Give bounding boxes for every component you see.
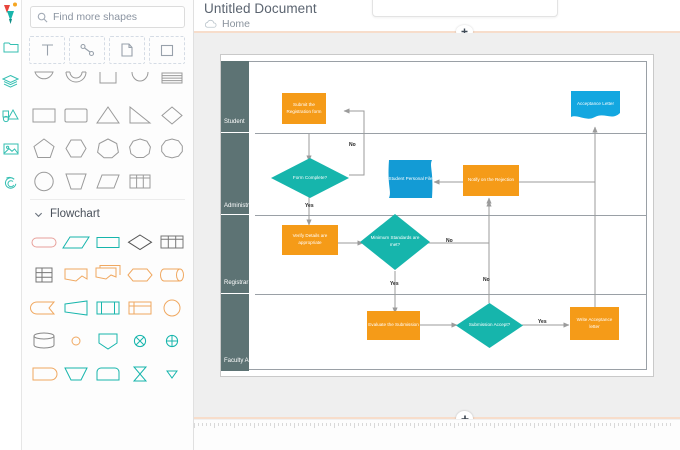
ruler-tick: [670, 423, 671, 426]
ruler-tick: [514, 423, 515, 428]
app-root: Flowchart: [0, 0, 680, 450]
shape-nonagon-icon[interactable]: [125, 133, 154, 163]
ruler-tick: [378, 423, 379, 426]
ruler-tick: [650, 423, 651, 426]
ruler-tick: [538, 423, 539, 426]
ruler-tick: [198, 423, 199, 426]
shape-arc-double-icon[interactable]: [61, 67, 90, 97]
shape-trapezoid-icon[interactable]: [61, 166, 90, 196]
ruler-tick: [506, 423, 507, 426]
ruler-tick: [230, 423, 231, 426]
ruler-tick: [530, 423, 531, 426]
search-input[interactable]: [53, 11, 178, 23]
ruler-tick: [310, 423, 311, 426]
ruler-tick: [354, 423, 355, 428]
shape-shield-icon[interactable]: [93, 326, 122, 356]
shape-search-wrap: [22, 0, 193, 32]
ruler-tick: [582, 423, 583, 426]
node-form-complete[interactable]: Form Complete?: [271, 158, 349, 198]
shape-small-circle-icon[interactable]: [61, 326, 90, 356]
node-evaluate-submission[interactable]: Evaluate the Submission: [367, 311, 420, 340]
edge-label-no-accept: No: [483, 277, 490, 283]
ruler-tick: [494, 423, 495, 428]
connector-tool-icon[interactable]: [69, 36, 105, 64]
shape-rounded-terminator-icon[interactable]: [93, 359, 122, 389]
ruler-tick: [554, 423, 555, 428]
diagram-sheet[interactable]: Student Administration Registrar Faculty…: [220, 54, 654, 377]
ruler-tick: [314, 423, 315, 428]
shape-row: [29, 293, 186, 323]
shape-table-icon[interactable]: [157, 227, 186, 257]
shape-summing-junction-icon[interactable]: [125, 326, 154, 356]
node-student-personal-file[interactable]: Student Personal File: [386, 160, 435, 198]
swimlane-label-faculty: Faculty Admin: [224, 358, 262, 364]
shape-decision-icon[interactable]: [125, 227, 154, 257]
layers-icon[interactable]: [2, 72, 20, 90]
chevron-down-icon: [34, 210, 43, 219]
shape-table-striped-icon[interactable]: [157, 67, 186, 97]
ruler-tick: [422, 423, 423, 426]
breadcrumb[interactable]: Home: [204, 18, 680, 30]
ruler-tick: [278, 423, 279, 426]
ruler-tick: [430, 423, 431, 426]
node-acceptance-letter[interactable]: Acceptance Letter: [571, 88, 620, 121]
ruler-tick: [274, 423, 275, 428]
ruler-tick: [526, 423, 527, 426]
ruler-tick: [482, 423, 483, 426]
swimlane-separator: [255, 215, 647, 216]
ruler-tick: [654, 423, 655, 428]
editor-area: Untitled Document Home Stu: [194, 0, 680, 450]
search-icon: [37, 12, 48, 23]
ruler-tick: [262, 423, 263, 426]
ruler-tick: [546, 423, 547, 426]
node-notify-rejection[interactable]: Notify on the Rejection: [463, 165, 519, 196]
ruler-tick: [614, 423, 615, 428]
node-minimum-standards[interactable]: Minimum Standards are met?: [360, 214, 430, 270]
ruler-tick: [226, 423, 227, 426]
shape-grid-icon[interactable]: [29, 260, 58, 290]
ruler-tick: [542, 423, 543, 426]
edge-label-yes-accept: Yes: [538, 319, 547, 325]
ruler-tick: [402, 423, 403, 426]
breadcrumb-label: Home: [222, 18, 250, 30]
ruler-tick: [394, 423, 395, 428]
ruler-tick: [250, 423, 251, 426]
bottom-ruler-strip[interactable]: [194, 419, 680, 450]
ruler-tick: [630, 423, 631, 426]
ruler-tick: [290, 423, 291, 426]
ruler-tick: [286, 423, 287, 426]
ruler-tick: [662, 423, 663, 426]
tool-row: [22, 32, 193, 67]
ruler-tick: [350, 423, 351, 426]
ruler-tick: [534, 423, 535, 428]
ruler-tick: [306, 423, 307, 426]
folder-icon[interactable]: [2, 38, 20, 56]
ruler-tick: [370, 423, 371, 426]
ruler-tick: [426, 423, 427, 426]
shape-alt-process-icon[interactable]: [29, 359, 58, 389]
ruler-tick: [646, 423, 647, 426]
ruler-tick: [442, 423, 443, 426]
shapes-icon[interactable]: [2, 106, 20, 124]
ruler-tick: [222, 423, 223, 426]
ruler-tick: [206, 423, 207, 426]
shape-direct-data-icon[interactable]: [157, 260, 186, 290]
ruler-tick: [622, 423, 623, 426]
ruler-tick: [478, 423, 479, 426]
ruler-tick: [346, 423, 347, 426]
ruler-tick: [238, 423, 239, 426]
ruler-tick: [302, 423, 303, 426]
document-header: Untitled Document Home: [194, 0, 680, 30]
edge-label-yes-standards: Yes: [390, 281, 399, 287]
ruler-tick: [502, 423, 503, 426]
ruler-tick: [322, 423, 323, 426]
shape-table-grid-icon[interactable]: [125, 166, 154, 196]
ruler-tick: [558, 423, 559, 426]
shape-multi-document-icon[interactable]: [93, 260, 122, 290]
ruler-tick: [618, 423, 619, 426]
ruler-tick: [522, 423, 523, 426]
edge-label-no-form: No: [349, 142, 356, 148]
ruler-tick: [578, 423, 579, 426]
ruler-tick: [270, 423, 271, 426]
text-tool-icon[interactable]: [29, 36, 65, 64]
shape-rect-open-top-icon[interactable]: [93, 67, 122, 97]
swimlane-label-registrar: Registrar: [224, 280, 248, 286]
shape-terminator-icon[interactable]: [29, 227, 58, 257]
node-verify-details[interactable]: Verify Details are appropriate: [282, 225, 338, 255]
shape-parallelogram-icon[interactable]: [61, 227, 90, 257]
ruler-tick: [318, 423, 319, 426]
ruler-tick: [338, 423, 339, 426]
note-tool-icon[interactable]: [109, 36, 145, 64]
node-submission-accept[interactable]: Submission Accept?: [456, 303, 523, 348]
ruler-tick: [406, 423, 407, 426]
shapes-panel: Flowchart: [22, 0, 194, 450]
ruler-tick: [602, 423, 603, 426]
ruler-tick: [666, 423, 667, 426]
ruler-tick: [658, 423, 659, 426]
cloud-icon: [204, 19, 217, 29]
shape-predefined-process-icon[interactable]: [93, 293, 122, 323]
shape-or-gate-icon[interactable]: [157, 326, 186, 356]
ruler-tick: [586, 423, 587, 426]
node-submit-registration[interactable]: Submit the Registration form: [282, 93, 326, 124]
shape-preparation-icon[interactable]: [125, 260, 154, 290]
canvas-area[interactable]: Student Administration Registrar Faculty…: [194, 33, 680, 417]
image-icon[interactable]: [2, 140, 20, 158]
ruler-tick: [466, 423, 467, 426]
shape-row: [29, 67, 186, 97]
ruler-tick: [398, 423, 399, 426]
ruler-tick: [254, 423, 255, 428]
flowchart-section-header[interactable]: Flowchart: [22, 200, 193, 227]
ruler-tick: [570, 423, 571, 426]
ruler-tick: [298, 423, 299, 426]
shape-right-triangle-icon[interactable]: [125, 100, 154, 130]
ruler-tick: [490, 423, 491, 426]
format-toolbar[interactable]: [372, 0, 558, 17]
shape-process-icon[interactable]: [93, 227, 122, 257]
icon-rail: [0, 0, 22, 450]
ruler-tick: [566, 423, 567, 426]
shape-diamond-icon[interactable]: [157, 100, 186, 130]
shape-row: [29, 166, 186, 196]
ruler-tick: [642, 423, 643, 426]
ruler-tick: [518, 423, 519, 426]
ruler-tick: [450, 423, 451, 426]
ruler-tick: [266, 423, 267, 426]
brand-logo-icon[interactable]: [2, 2, 20, 26]
shape-database-icon[interactable]: [29, 326, 58, 356]
shape-pentagon-icon[interactable]: [29, 133, 58, 163]
basic-shape-grid: [22, 67, 193, 196]
ruler-tick: [386, 423, 387, 426]
shape-triangle-icon[interactable]: [93, 100, 122, 130]
ruler-tick: [606, 423, 607, 426]
ruler-tick: [462, 423, 463, 426]
ruler-tick: [418, 423, 419, 426]
node-label: Student Personal File: [386, 160, 435, 198]
ruler-tick: [434, 423, 435, 428]
ruler-tick: [414, 423, 415, 428]
shape-semicircle-wide-icon[interactable]: [125, 67, 154, 97]
shape-semicircle-icon[interactable]: [29, 67, 58, 97]
ruler-tick: [258, 423, 259, 426]
shape-triangle-down-icon[interactable]: [157, 359, 186, 389]
ruler-tick: [194, 423, 195, 428]
ruler-tick: [218, 423, 219, 426]
ruler-tick: [382, 423, 383, 426]
ruler-tick: [358, 423, 359, 426]
shape-hexagon-icon[interactable]: [61, 133, 90, 163]
ruler-tick: [390, 423, 391, 426]
shape-manual-operation-icon[interactable]: [61, 359, 90, 389]
ruler-tick: [330, 423, 331, 426]
ruler-tick: [334, 423, 335, 428]
ruler-tick: [374, 423, 375, 428]
shape-row-empty: [157, 166, 186, 196]
ruler-tick: [446, 423, 447, 426]
ruler-tick: [594, 423, 595, 428]
shape-rounded-rect-icon[interactable]: [61, 100, 90, 130]
node-write-acceptance-letter[interactable]: Write Acceptance letter: [570, 307, 619, 340]
ruler-tick: [590, 423, 591, 426]
shape-search-box[interactable]: [30, 6, 185, 28]
node-label: Acceptance Letter: [571, 88, 620, 121]
ruler-tick: [498, 423, 499, 426]
ruler-tick: [638, 423, 639, 426]
shape-connector-circle-icon[interactable]: [157, 293, 186, 323]
ruler-tick: [366, 423, 367, 426]
shape-row: [29, 227, 186, 257]
ruler-tick: [598, 423, 599, 426]
ruler-tick: [610, 423, 611, 426]
flowchart-section-label: Flowchart: [50, 208, 100, 220]
shape-parallelogram-icon[interactable]: [93, 166, 122, 196]
ruler-tick: [242, 423, 243, 426]
ruler-tick: [634, 423, 635, 428]
shape-hourglass-icon[interactable]: [125, 359, 154, 389]
shape-circle-icon[interactable]: [29, 166, 58, 196]
shape-row: [29, 100, 186, 130]
edge-label-yes-form: Yes: [305, 203, 314, 209]
shape-delay-icon[interactable]: [29, 293, 58, 323]
node-label: Form Complete?: [288, 175, 332, 182]
shape-internal-storage-icon[interactable]: [125, 293, 154, 323]
ruler-ticks: [194, 423, 680, 429]
ruler-tick: [214, 423, 215, 428]
swimlane-separator: [255, 133, 647, 134]
shape-document-icon[interactable]: [61, 260, 90, 290]
ruler-tick: [326, 423, 327, 426]
shape-row: [29, 359, 186, 389]
ruler-tick: [454, 423, 455, 428]
node-label: Minimum Standards are met?: [361, 235, 429, 249]
ruler-tick: [458, 423, 459, 426]
shape-decagon-icon[interactable]: [157, 133, 186, 163]
node-label: Submission Accept?: [464, 322, 515, 329]
ruler-tick: [574, 423, 575, 428]
ruler-tick: [626, 423, 627, 426]
ruler-tick: [562, 423, 563, 426]
ruler-tick: [246, 423, 247, 426]
ruler-tick: [470, 423, 471, 426]
shape-heptagon-icon[interactable]: [93, 133, 122, 163]
ruler-tick: [510, 423, 511, 426]
swimlane-label-administration: Administration: [224, 203, 262, 209]
shape-row: [29, 260, 186, 290]
ruler-tick: [550, 423, 551, 426]
spiral-icon[interactable]: [2, 174, 20, 192]
shape-row: [29, 133, 186, 163]
ruler-tick: [294, 423, 295, 428]
ruler-tick: [486, 423, 487, 426]
shape-row: [29, 326, 186, 356]
ruler-tick: [210, 423, 211, 426]
ruler-tick: [202, 423, 203, 426]
flowchart-shape-grid: [22, 227, 193, 389]
ruler-tick: [438, 423, 439, 426]
swimlane-separator: [255, 294, 647, 295]
rectangle-tool-icon[interactable]: [149, 36, 185, 64]
shape-rectangle-icon[interactable]: [29, 100, 58, 130]
ruler-tick: [282, 423, 283, 426]
ruler-tick: [410, 423, 411, 426]
ruler-tick: [342, 423, 343, 426]
swimlane-label-student: Student: [224, 119, 245, 125]
edge-label-no-standards: No: [446, 238, 453, 244]
ruler-tick: [362, 423, 363, 426]
shape-manual-input-icon[interactable]: [61, 293, 90, 323]
ruler-tick: [474, 423, 475, 428]
ruler-tick: [234, 423, 235, 428]
